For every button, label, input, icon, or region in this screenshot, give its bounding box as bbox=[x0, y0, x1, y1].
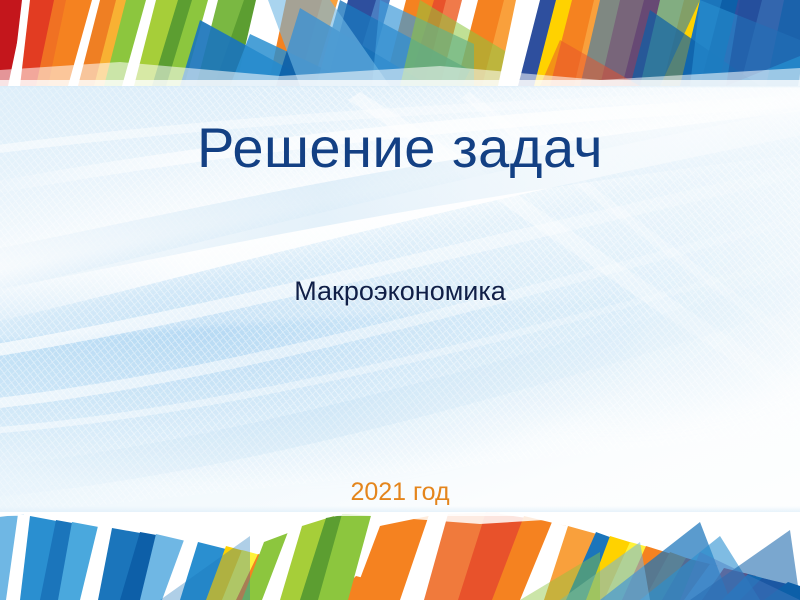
slide-title: Решение задач bbox=[0, 113, 800, 183]
presentation-slide: Решение задач Макроэкономика 2021 год bbox=[0, 0, 800, 600]
slide-subtitle: Макроэкономика bbox=[0, 273, 800, 309]
geometric-shards-bottom bbox=[0, 512, 800, 600]
slide-year: 2021 год bbox=[0, 476, 800, 508]
decorative-band-bottom bbox=[0, 512, 800, 600]
geometric-shards-top bbox=[0, 0, 800, 86]
decorative-band-top bbox=[0, 0, 800, 86]
